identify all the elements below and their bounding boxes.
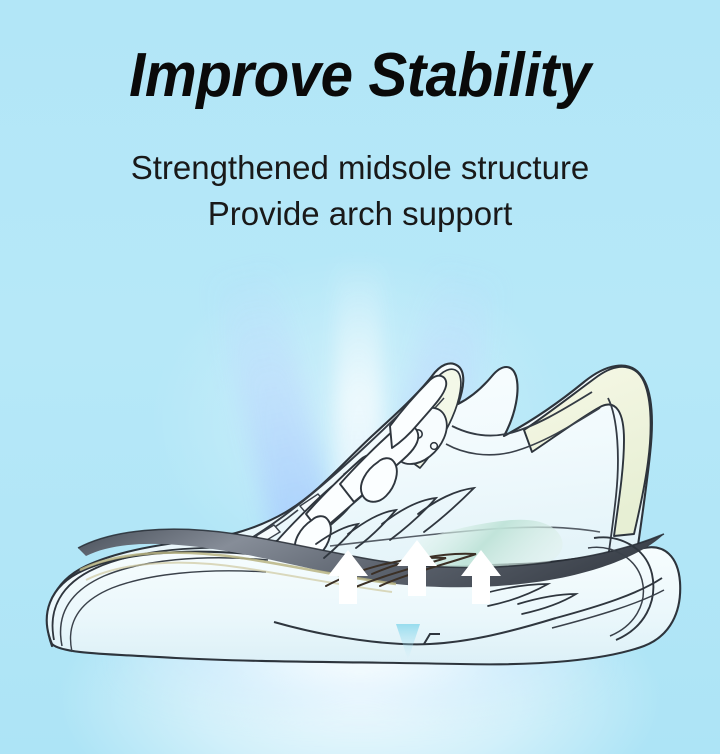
page-title: Improve Stability [22, 41, 699, 111]
stability-feature-poster: Improve Stability Strengthened midsole s… [0, 0, 720, 754]
subtitle-line-2: Provide arch support [0, 192, 720, 236]
shoe-illustration [0, 248, 720, 668]
subtitle-line-1: Strengthened midsole structure [0, 146, 720, 190]
